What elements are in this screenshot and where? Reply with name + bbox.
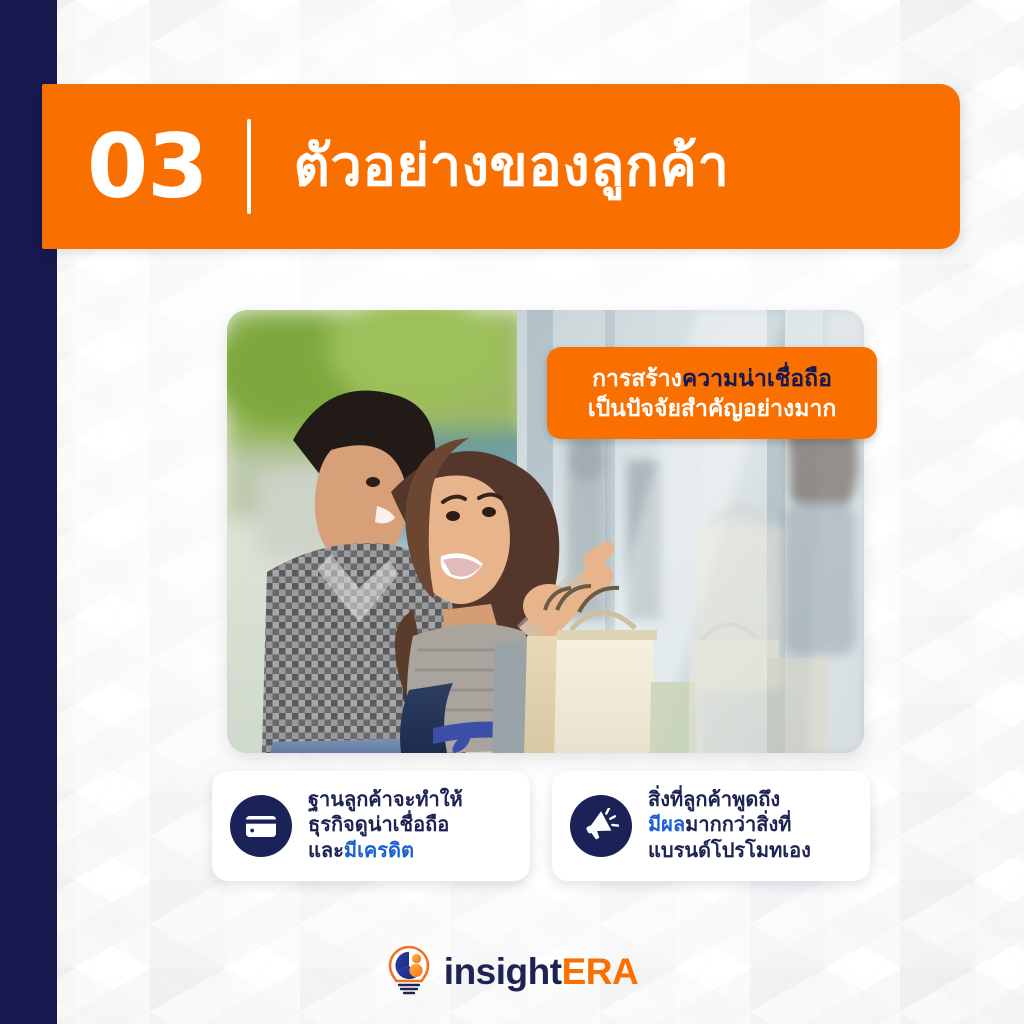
card-left-line-3-emphasis: มีเครดิต: [344, 840, 414, 862]
brand-logo: insightERA: [0, 940, 1024, 1002]
card-right-line-1: สิ่งที่ลูกค้าพูดถึง: [648, 788, 811, 814]
callout-line-1-plain: การสร้าง: [592, 365, 682, 391]
card-right-line-2-emphasis: มีผล: [648, 814, 685, 836]
card-right-line-2-plain: มากกว่าสิ่งที่: [685, 814, 791, 836]
megaphone-icon: [570, 795, 632, 857]
card-left-line-1: ฐานลูกค้าจะทำให้: [308, 788, 463, 814]
lightbulb-logo-icon: [386, 945, 432, 997]
feature-card-credit-text: ฐานลูกค้าจะทำให้ ธุรกิจดูน่าเชื่อถือ และ…: [308, 788, 463, 865]
page-title: ตัวอย่างของลูกค้า: [293, 134, 729, 198]
slide-canvas: 03 ตัวอย่างของลูกค้า: [0, 0, 1024, 1024]
header-divider: [247, 119, 251, 214]
credit-card-icon: [230, 795, 292, 857]
card-left-line-3: และมีเครดิต: [308, 839, 463, 865]
brand-wordmark-first: insight: [444, 951, 562, 992]
section-number: 03: [87, 123, 207, 211]
photo-callout-banner: การสร้างความน่าเชื่อถือ เป็นปัจจัยสำคัญอ…: [547, 347, 877, 439]
callout-line-1: การสร้างความน่าเชื่อถือ: [592, 363, 832, 393]
card-right-line-3: แบรนด์โปรโมทเอง: [648, 839, 811, 865]
card-right-line-2: มีผลมากกว่าสิ่งที่: [648, 813, 811, 839]
card-left-line-2: ธุรกิจดูน่าเชื่อถือ: [308, 813, 463, 839]
section-header-bar: 03 ตัวอย่างของลูกค้า: [42, 84, 960, 249]
card-left-line-3-plain: และ: [308, 840, 344, 862]
feature-card-wordofmouth-text: สิ่งที่ลูกค้าพูดถึง มีผลมากกว่าสิ่งที่ แ…: [648, 788, 811, 865]
feature-card-credit[interactable]: ฐานลูกค้าจะทำให้ ธุรกิจดูน่าเชื่อถือ และ…: [212, 771, 530, 881]
callout-line-1-emphasis: ความน่าเชื่อถือ: [682, 365, 832, 391]
brand-wordmark-second: ERA: [562, 951, 639, 992]
callout-line-2: เป็นปัจจัยสำคัญอย่างมาก: [588, 393, 837, 423]
brand-wordmark: insightERA: [444, 953, 638, 990]
feature-card-wordofmouth[interactable]: สิ่งที่ลูกค้าพูดถึง มีผลมากกว่าสิ่งที่ แ…: [552, 771, 870, 881]
